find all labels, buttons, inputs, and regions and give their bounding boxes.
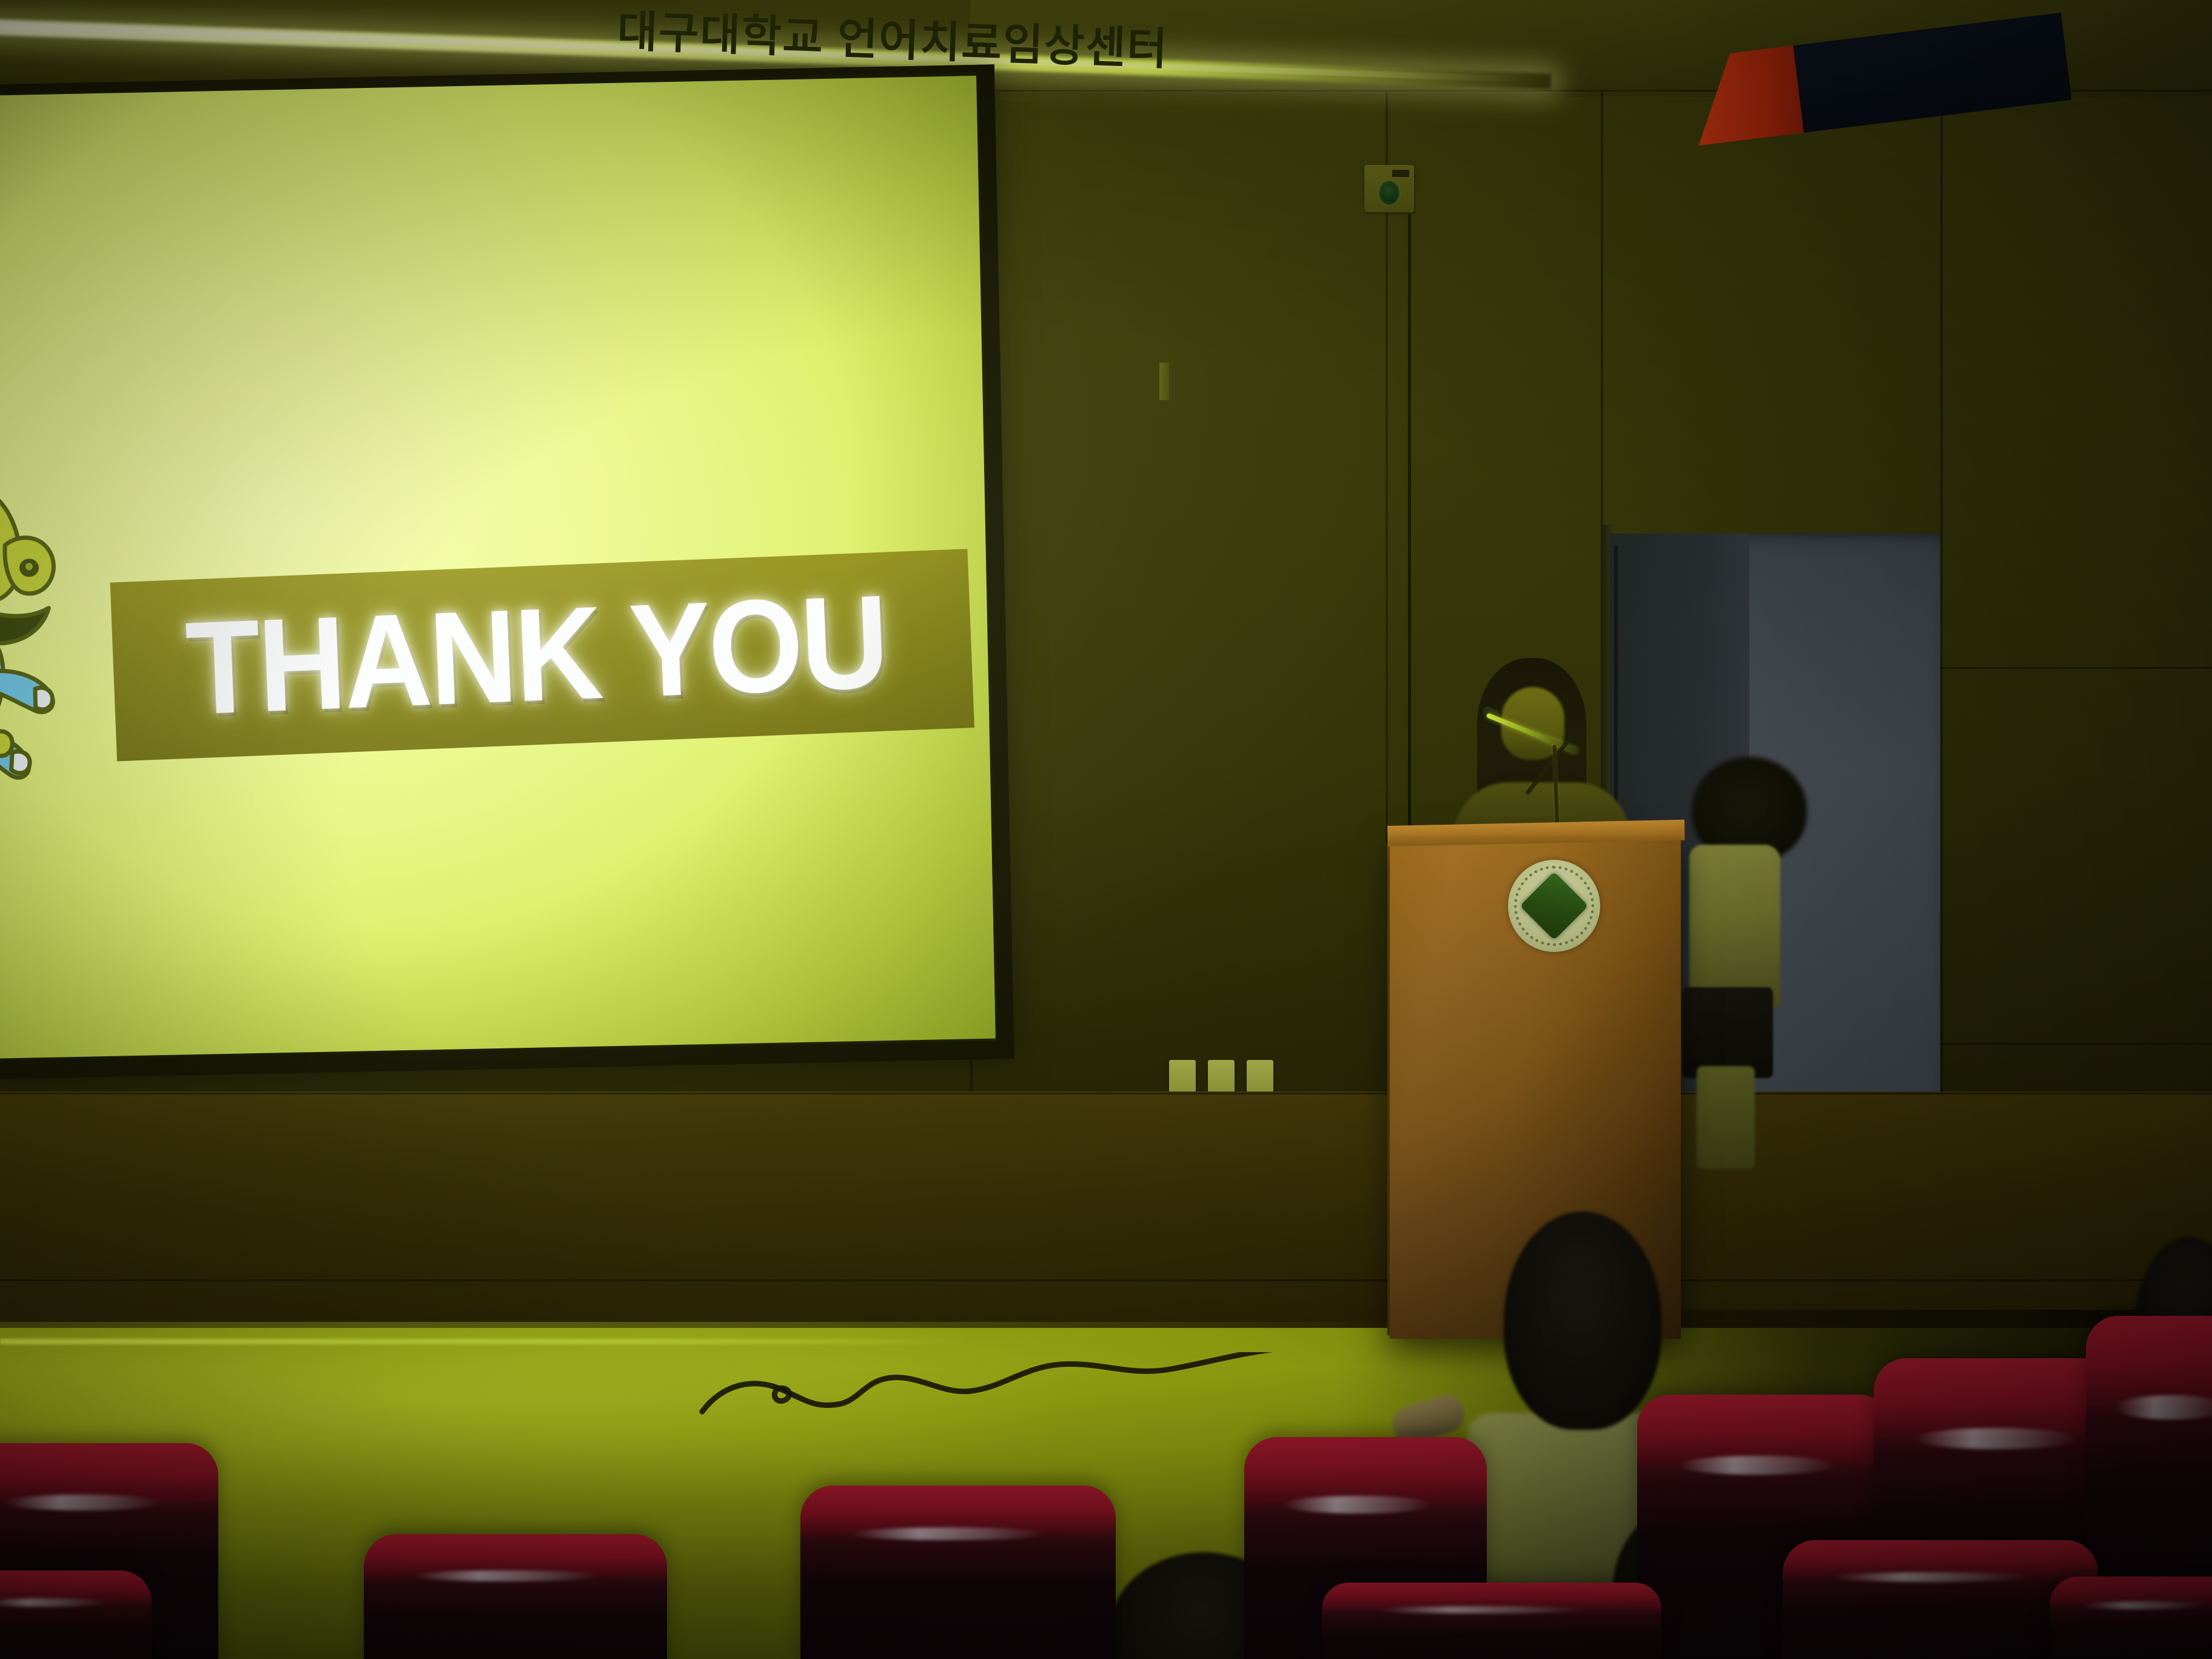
seat-top-cushion (2086, 1316, 2212, 1406)
wall-seam (1940, 91, 1943, 1122)
seat-top-cushion (0, 1443, 218, 1501)
seat-gloss (2115, 1395, 2212, 1419)
seat-top-cushion (1322, 1583, 1661, 1609)
auditorium-seat[interactable] (0, 1570, 152, 1659)
seat-gloss (851, 1527, 1046, 1540)
seat-top-cushion (1783, 1540, 2098, 1577)
seat-top-cushion (364, 1534, 667, 1575)
wainscot-seam (0, 1279, 2212, 1281)
seat-gloss (4, 1495, 162, 1510)
auditorium-seat[interactable] (2049, 1577, 2212, 1659)
seat-gloss (1678, 1456, 1835, 1475)
auditorium-seat[interactable] (364, 1534, 667, 1659)
person-in-doorway (1674, 757, 1825, 1169)
auditorium-seat[interactable] (1322, 1583, 1661, 1659)
seat-gloss (0, 1598, 107, 1607)
sensor-lens-icon (1379, 181, 1399, 205)
wall-seam (1940, 667, 2212, 669)
wall-seam (1940, 1043, 2212, 1045)
seat-gloss (1915, 1428, 2077, 1449)
seat-top-cushion (1637, 1395, 1892, 1464)
presenter-at-podium (1460, 658, 1624, 846)
wall-panel-switch-icon (1159, 363, 1169, 400)
wall-seam (1601, 91, 1603, 540)
seat-top-cushion (2049, 1577, 2212, 1605)
blue-cartoon-mascot-icon (0, 471, 87, 850)
seat-gloss (1376, 1606, 1587, 1614)
stage-edge-highlight (0, 1339, 970, 1344)
auditorium-seat[interactable] (800, 1486, 1116, 1659)
slide-title-band: THANK YOU (110, 549, 974, 761)
seat-gloss (412, 1570, 600, 1581)
doorway-person-skirt (1682, 987, 1773, 1078)
seat-top-cushion (1244, 1437, 1487, 1503)
wall-sensor-box-icon (1364, 165, 1414, 212)
seat-gloss (1833, 1572, 2028, 1582)
auditorium-photo: 대구대학교 언어치료임상센터 (0, 0, 2212, 1659)
audience-member-front-head (1504, 1212, 1661, 1430)
university-emblem-icon (1508, 860, 1600, 952)
wainscot-seam (0, 1093, 2212, 1094)
doorway-person-torso (1689, 845, 1780, 1008)
doorway-person-legs (1697, 1066, 1755, 1169)
seat-gloss (2082, 1601, 2206, 1609)
sensor-slot (1392, 170, 1409, 177)
seat-top-cushion (0, 1570, 152, 1602)
slide-title-text: THANK YOU (184, 575, 889, 735)
projection-screen: THANK YOU (0, 64, 1014, 1079)
seat-gloss (1283, 1496, 1433, 1513)
wall-conduit (1408, 213, 1411, 862)
seat-top-cushion (800, 1486, 1116, 1533)
